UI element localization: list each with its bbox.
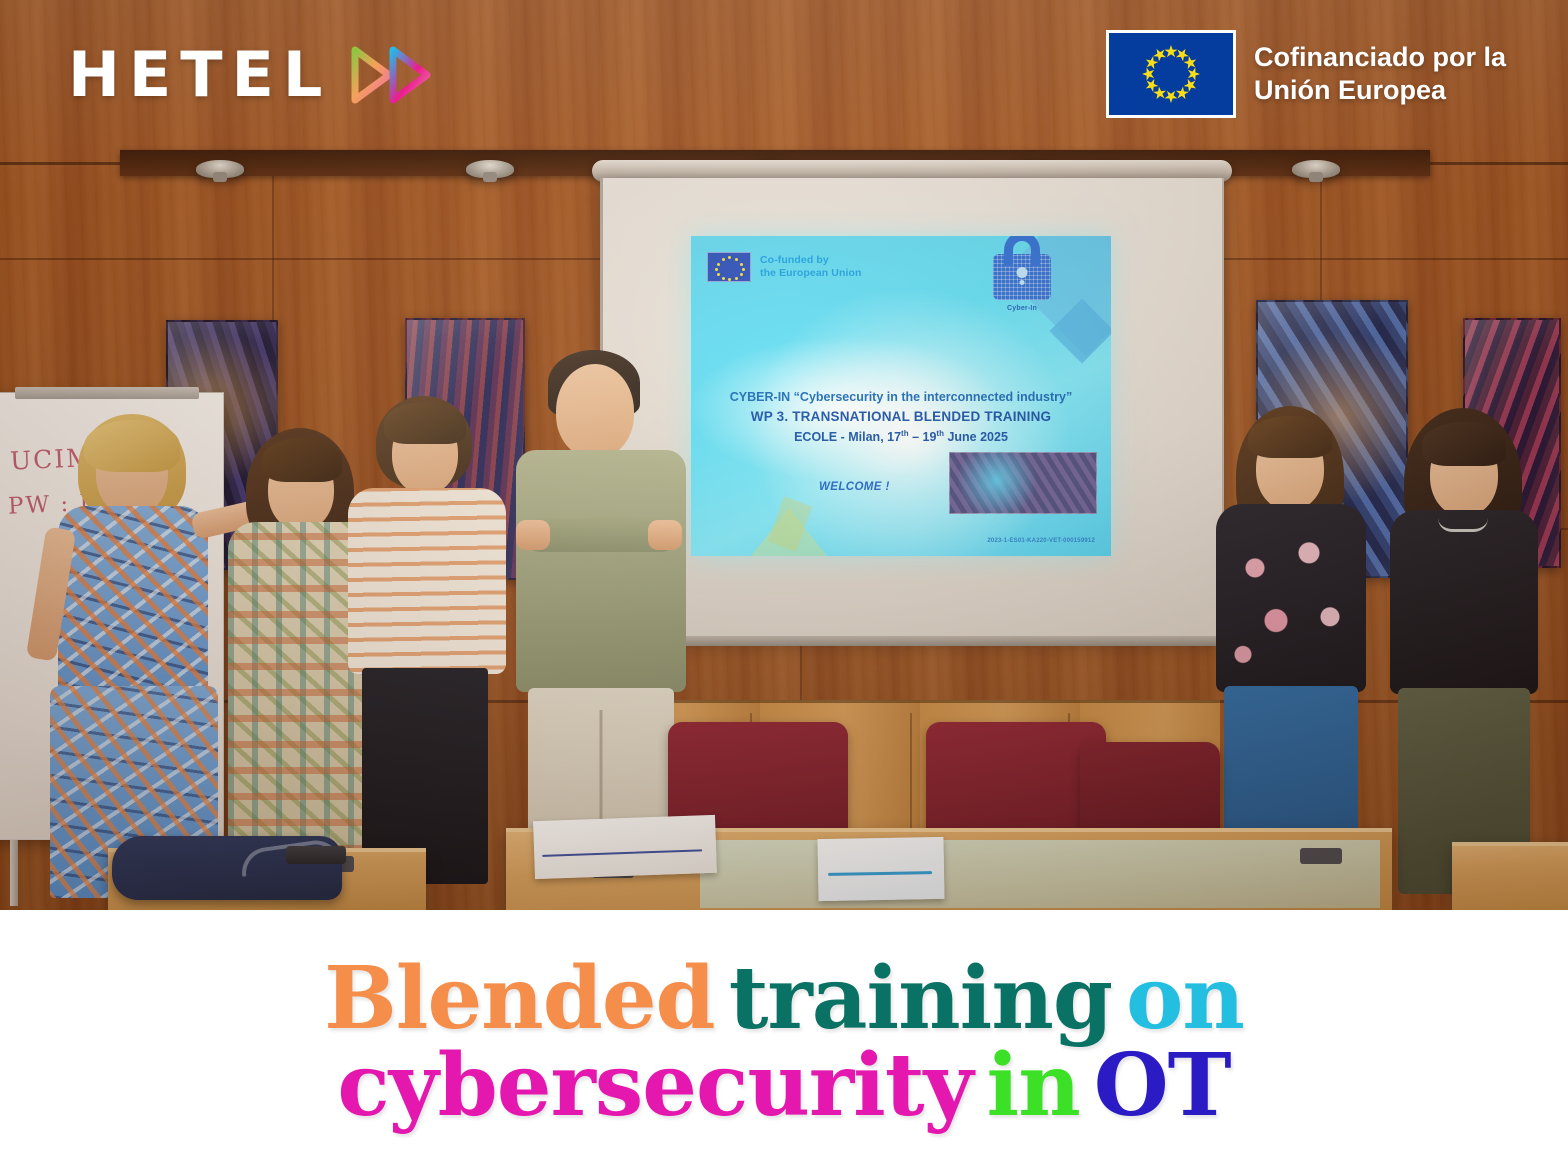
title-word: in	[980, 1045, 1087, 1128]
table-cable-grommet	[1300, 848, 1342, 864]
title-word: training	[722, 958, 1119, 1041]
flipchart-stand	[10, 840, 18, 906]
screen-bottom-bar	[600, 636, 1224, 646]
slide-project-code: 2023-1-ES01-KA220-VET-000159912	[987, 538, 1095, 544]
slide-wp-title: WP 3. TRANSNATIONAL BLENDED TRAINING	[701, 407, 1101, 428]
eu-cofunding-logo: Cofinanciado por la Unión Europea	[1106, 30, 1506, 118]
slide-welcome-text: WELCOME !	[819, 481, 890, 493]
title-word: OT	[1087, 1045, 1238, 1128]
person-blue-floral-dress	[44, 418, 234, 888]
side-table-right	[1452, 842, 1568, 910]
title-word: Blended	[317, 958, 722, 1041]
eu-cofunding-text: Cofinanciado por la Unión Europea	[1254, 41, 1506, 107]
event-photo: Co-funded by the European Union Cyber-In…	[0, 0, 1568, 910]
person-striped-top	[348, 396, 508, 886]
paper-stack	[533, 815, 717, 879]
title-word: on	[1119, 958, 1251, 1041]
ceiling-spotlight-icon	[1292, 160, 1340, 178]
padlock-label: Cyber-In	[985, 305, 1059, 312]
person-floral-top-blue-trousers	[1208, 408, 1378, 894]
phone-on-table	[286, 846, 346, 864]
slide-inset-image	[949, 452, 1097, 514]
hetel-wordmark: HETEL	[68, 44, 331, 106]
slide-eu-funding-text: Co-funded by the European Union	[760, 254, 862, 281]
slide-padlock-logo: Cyber-In	[985, 254, 1059, 312]
printed-document	[817, 837, 944, 901]
slide-venue-dates: ECOLE - Milan, 17th – 19th June 2025	[701, 428, 1101, 448]
poster-root: Co-funded by the European Union Cyber-In…	[0, 0, 1568, 1176]
person-black-top-olive-trousers	[1380, 412, 1550, 894]
ceiling-spotlight-icon	[196, 160, 244, 178]
projected-slide: Co-funded by the European Union Cyber-In…	[691, 236, 1111, 556]
padlock-icon	[993, 254, 1051, 300]
projection-screen: Co-funded by the European Union Cyber-In…	[600, 178, 1224, 638]
hetel-double-chevron-icon	[347, 40, 439, 110]
title-line-2: cybersecurityinOT	[330, 1045, 1237, 1128]
title-word: cybersecurity	[330, 1045, 979, 1128]
table-glass-surface	[700, 840, 1380, 908]
eu-flag-icon	[707, 252, 751, 282]
eu-flag-icon	[1106, 30, 1236, 118]
slide-title-block: CYBER-IN “Cybersecurity in the interconn…	[691, 388, 1111, 447]
flipchart-clip	[15, 387, 199, 399]
hetel-logo: HETEL	[68, 40, 439, 110]
title-banner: Blendedtrainingon cybersecurityinOT	[0, 910, 1568, 1176]
slide-eu-funding-logo: Co-funded by the European Union	[707, 252, 862, 282]
ceiling-spotlight-icon	[466, 160, 514, 178]
title-line-1: Blendedtrainingon	[317, 958, 1251, 1041]
person-olive-shirt	[512, 350, 692, 890]
slide-project-title: CYBER-IN “Cybersecurity in the interconn…	[701, 388, 1101, 407]
